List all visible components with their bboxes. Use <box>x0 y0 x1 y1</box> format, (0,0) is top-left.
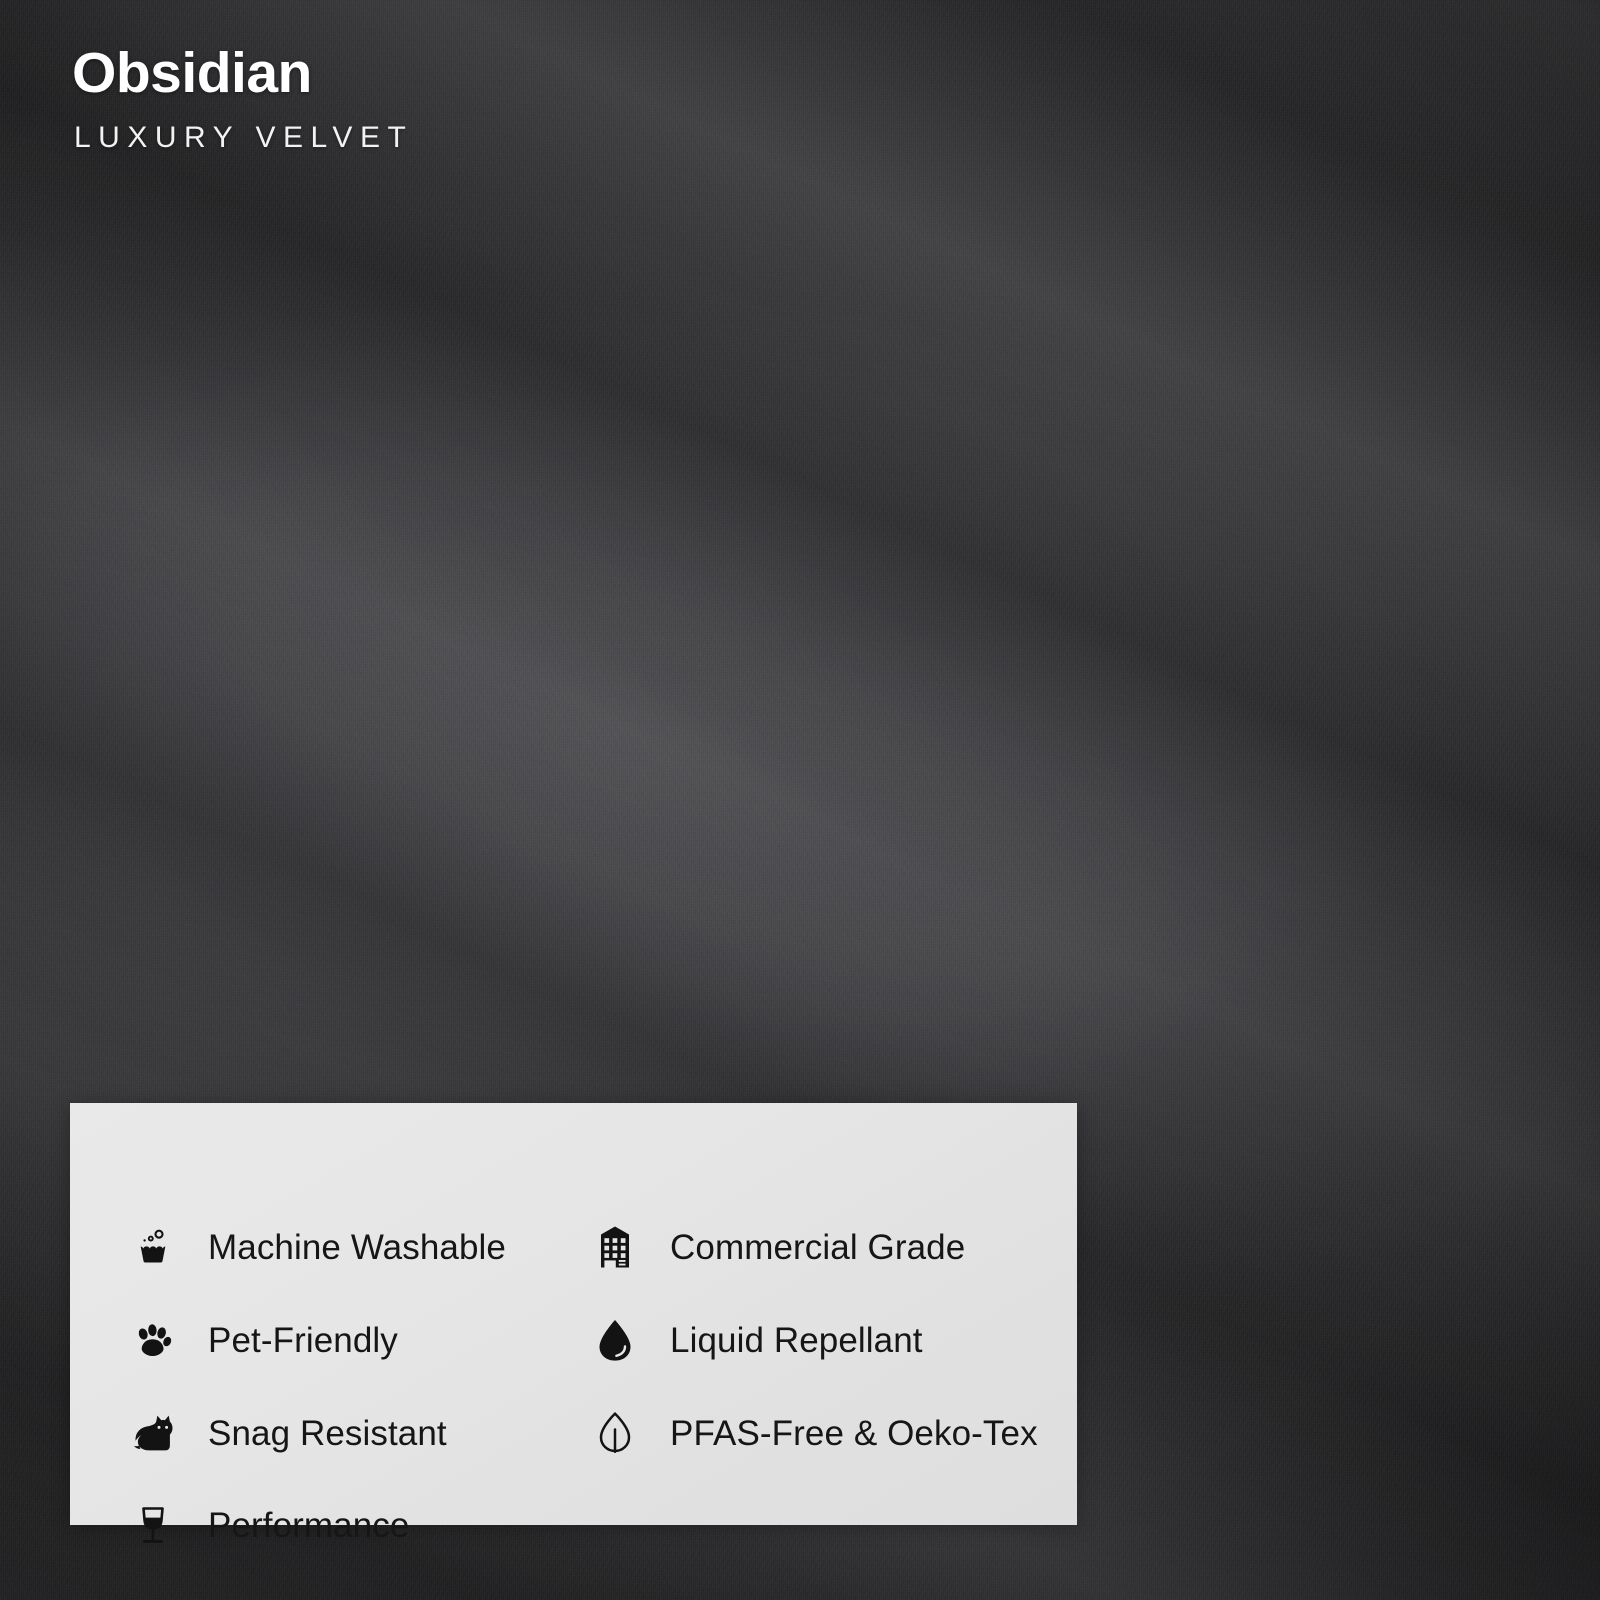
feature-label: Commercial Grade <box>670 1230 965 1265</box>
page-title: Obsidian <box>72 44 413 104</box>
feature-label: Machine Washable <box>208 1230 506 1265</box>
feature-label: Performance <box>208 1508 409 1543</box>
product-subtitle: LUXURY VELVET <box>74 120 413 156</box>
paw-print-icon <box>130 1317 176 1363</box>
feature-item-snag-resistant: Snag Resistant <box>130 1407 447 1459</box>
feature-column-right: Commercial Grade Liquid Repellant <box>592 1103 1062 1525</box>
feature-item-liquid-repellant: Liquid Repellant <box>592 1314 923 1366</box>
feature-label: PFAS-Free & Oeko-Tex <box>670 1416 1038 1451</box>
wash-basin-icon <box>130 1224 176 1270</box>
feature-item-performance: Performance <box>130 1499 409 1551</box>
feature-item-machine-washable: Machine Washable <box>130 1221 506 1273</box>
building-icon <box>592 1224 638 1270</box>
fabric-swatch-card: Obsidian LUXURY VELVET <box>0 0 1600 1600</box>
leaf-icon <box>592 1410 638 1456</box>
feature-label: Liquid Repellant <box>670 1323 923 1358</box>
feature-panel: Machine Washable Pet-Friendly <box>70 1103 1077 1525</box>
feature-label: Snag Resistant <box>208 1416 447 1451</box>
water-drop-icon <box>592 1317 638 1363</box>
feature-label: Pet-Friendly <box>208 1323 398 1358</box>
wine-glass-icon <box>130 1502 176 1548</box>
feature-item-pet-friendly: Pet-Friendly <box>130 1314 398 1366</box>
cat-icon <box>130 1410 176 1456</box>
feature-column-left: Machine Washable Pet-Friendly <box>130 1103 590 1525</box>
feature-item-pfas-free-oeko-tex: PFAS-Free & Oeko-Tex <box>592 1407 1038 1459</box>
feature-item-commercial-grade: Commercial Grade <box>592 1221 965 1273</box>
product-header: Obsidian LUXURY VELVET <box>72 44 413 156</box>
feature-grid: Machine Washable Pet-Friendly <box>70 1103 1077 1525</box>
